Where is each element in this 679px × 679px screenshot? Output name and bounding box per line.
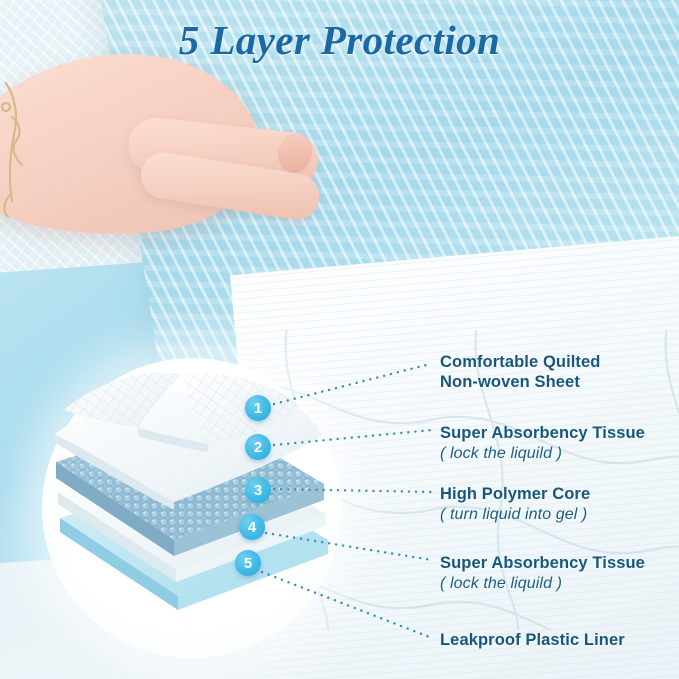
callout-label-1-line1: Comfortable Quilted xyxy=(440,352,601,372)
infographic-stage: 5 Layer Protection 1 2 3 4 5 Comfortable… xyxy=(0,0,679,679)
callout-label-3-line1: High Polymer Core xyxy=(440,484,590,504)
hand-holding-pad xyxy=(0,55,380,305)
callout-label-4: Super Absorbency Tissue ( lock the liqui… xyxy=(440,553,645,594)
callout-badge-4[interactable]: 4 xyxy=(239,514,265,540)
page-title: 5 Layer Protection xyxy=(0,16,679,64)
callout-label-3: High Polymer Core ( turn liquid into gel… xyxy=(440,484,590,525)
callout-badge-3[interactable]: 3 xyxy=(245,477,271,503)
callout-label-2-subtitle: ( lock the liquild ) xyxy=(440,443,645,464)
bracelet-icon xyxy=(0,77,62,227)
callout-label-2-line1: Super Absorbency Tissue xyxy=(440,423,645,443)
layer-stack-inset-circle xyxy=(42,358,342,658)
callout-label-1: Comfortable Quilted Non-woven Sheet xyxy=(440,352,601,392)
callout-badge-1[interactable]: 1 xyxy=(245,395,271,421)
callout-label-4-subtitle: ( lock the liquild ) xyxy=(440,573,645,594)
callout-label-1-line2: Non-woven Sheet xyxy=(440,372,601,392)
callout-badge-5[interactable]: 5 xyxy=(235,550,261,576)
callout-label-5: Leakproof Plastic Liner xyxy=(440,630,625,650)
callout-label-2: Super Absorbency Tissue ( lock the liqui… xyxy=(440,423,645,464)
exploded-layer-diagram xyxy=(42,358,342,658)
callout-badge-2[interactable]: 2 xyxy=(245,434,271,460)
callout-label-3-subtitle: ( turn liquid into gel ) xyxy=(440,504,590,525)
callout-label-5-line1: Leakproof Plastic Liner xyxy=(440,630,625,650)
callout-label-4-line1: Super Absorbency Tissue xyxy=(440,553,645,573)
